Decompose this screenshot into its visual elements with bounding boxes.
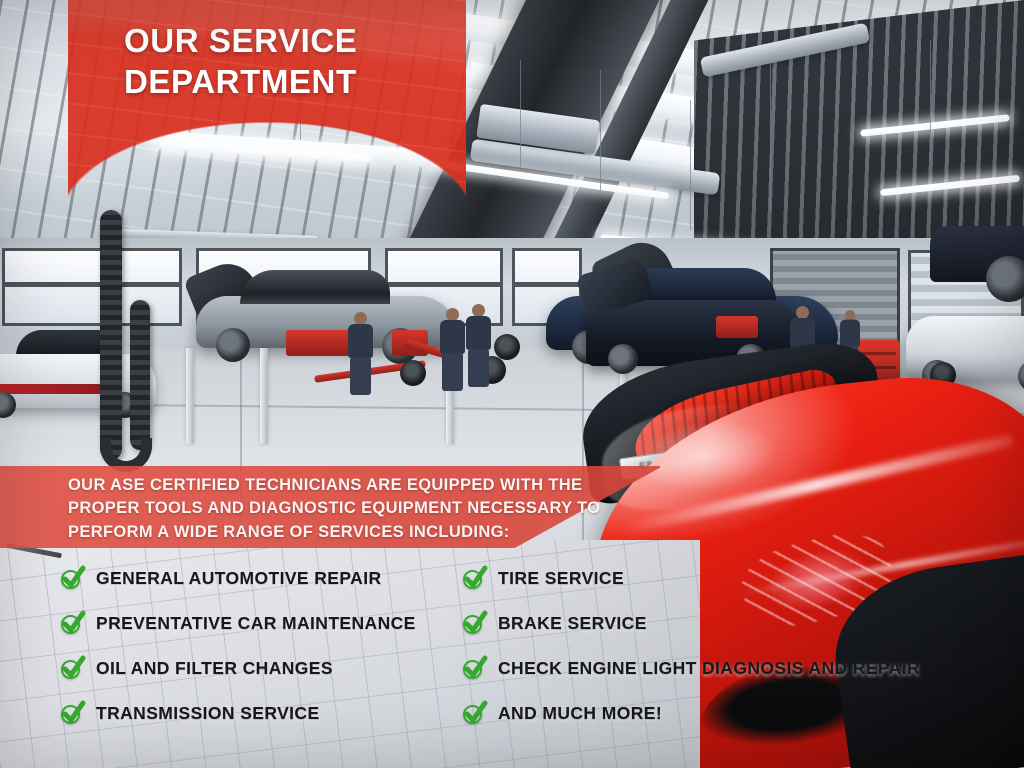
service-department-poster: E8 28 UAJ OUR SERVICE DEPARTMENT OUR ASE… — [0, 0, 1024, 768]
red-jack — [286, 330, 350, 356]
title-line-1: OUR SERVICE — [124, 20, 454, 61]
list-item-label: TIRE SERVICE — [498, 568, 624, 589]
intro-paragraph: OUR ASE CERTIFIED TECHNICIANS ARE EQUIPP… — [68, 474, 608, 544]
services-column-right: TIRE SERVICE BRAKE SERVICE CHECK ENGINE … — [462, 556, 1002, 736]
list-item: TRANSMISSION SERVICE — [60, 691, 460, 736]
check-circle-icon — [462, 702, 486, 726]
list-item: TIRE SERVICE — [462, 556, 1002, 601]
list-item-label: CHECK ENGINE LIGHT DIAGNOSIS AND REPAIR — [498, 658, 920, 679]
hanger-rod — [930, 40, 931, 160]
list-item-label: BRAKE SERVICE — [498, 613, 647, 634]
page-title: OUR SERVICE DEPARTMENT — [124, 20, 454, 103]
raised-car-top-right — [930, 226, 1024, 282]
list-item-label: OIL AND FILTER CHANGES — [96, 658, 333, 679]
list-item: GENERAL AUTOMOTIVE REPAIR — [60, 556, 460, 601]
check-circle-icon — [60, 567, 84, 591]
list-item: OIL AND FILTER CHANGES — [60, 646, 460, 691]
services-checklist: GENERAL AUTOMOTIVE REPAIR PREVENTATIVE C… — [0, 556, 1024, 736]
check-circle-icon — [60, 612, 84, 636]
check-circle-icon — [462, 567, 486, 591]
list-item: AND MUCH MORE! — [462, 691, 1002, 736]
hanger-rod — [770, 60, 771, 210]
hanger-rod — [690, 100, 691, 230]
title-banner: OUR SERVICE DEPARTMENT — [68, 0, 466, 220]
list-item-label: PREVENTATIVE CAR MAINTENANCE — [96, 613, 416, 634]
exhaust-extraction-hose — [130, 300, 150, 450]
list-item-label: GENERAL AUTOMOTIVE REPAIR — [96, 568, 382, 589]
title-line-2: DEPARTMENT — [124, 61, 454, 102]
list-item: BRAKE SERVICE — [462, 601, 1002, 646]
tyre — [400, 360, 426, 386]
intro-band: OUR ASE CERTIFIED TECHNICIANS ARE EQUIPP… — [0, 466, 660, 548]
check-circle-icon — [60, 702, 84, 726]
car-on-lift-white — [906, 316, 1024, 380]
list-item: CHECK ENGINE LIGHT DIAGNOSIS AND REPAIR — [462, 646, 1002, 691]
services-column-left: GENERAL AUTOMOTIVE REPAIR PREVENTATIVE C… — [60, 556, 460, 736]
list-item: PREVENTATIVE CAR MAINTENANCE — [60, 601, 460, 646]
check-circle-icon — [462, 612, 486, 636]
garage-window — [2, 248, 182, 326]
check-circle-icon — [462, 657, 486, 681]
list-item-label: AND MUCH MORE! — [498, 703, 662, 724]
check-circle-icon — [60, 657, 84, 681]
red-jack — [716, 316, 758, 338]
tyre — [494, 334, 520, 360]
list-item-label: TRANSMISSION SERVICE — [96, 703, 320, 724]
hanger-rod — [520, 60, 521, 170]
hanger-rod — [600, 70, 601, 190]
exhaust-extraction-hose — [100, 210, 122, 460]
